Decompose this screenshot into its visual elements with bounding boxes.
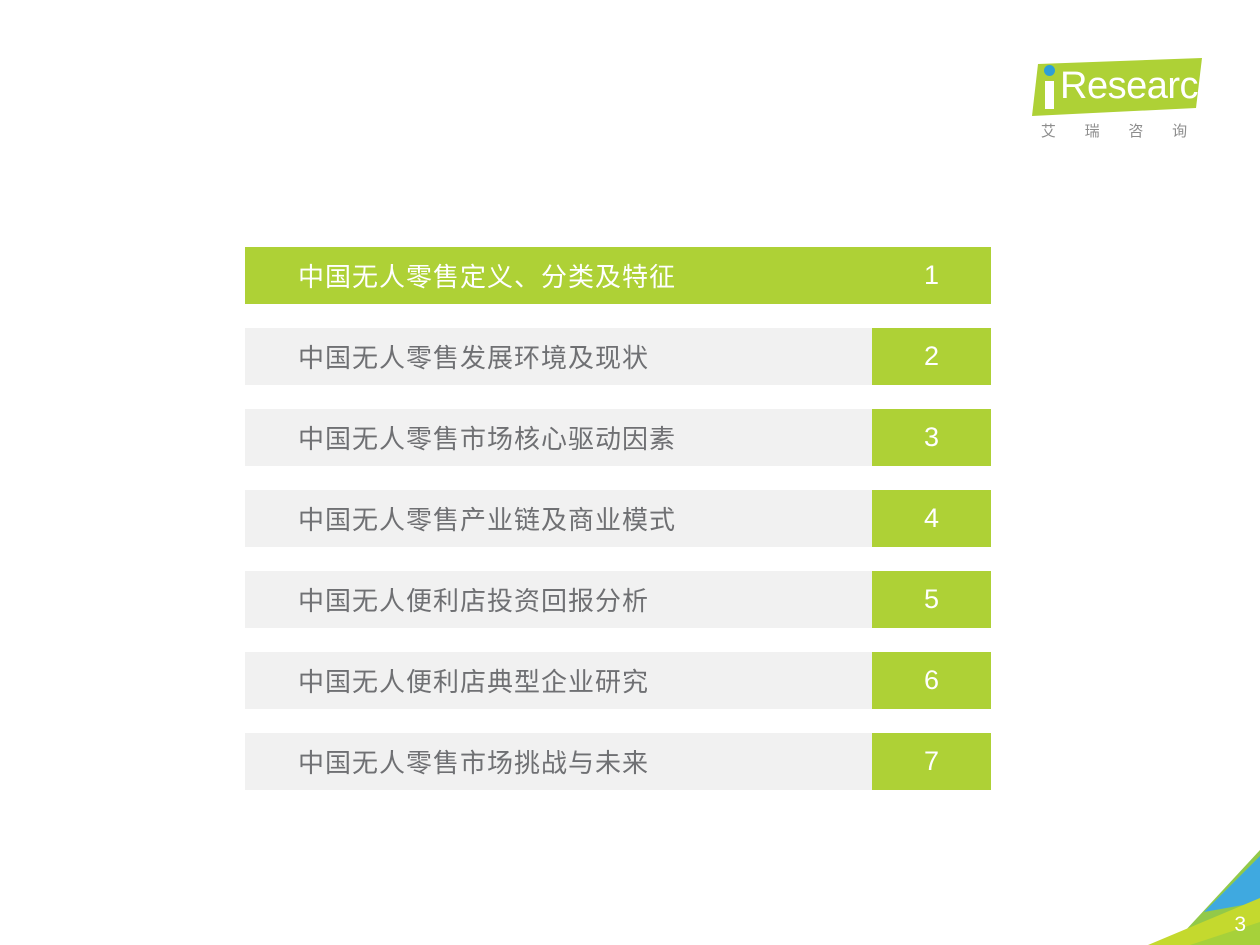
agenda-row-label: 中国无人零售市场核心驱动因素 [245,409,872,466]
agenda-row-number: 6 [872,652,991,709]
agenda-row-label: 中国无人零售发展环境及现状 [245,328,872,385]
agenda-row-number: 3 [872,409,991,466]
iresearch-logo: Research 艾 瑞 咨 询 [1032,58,1204,150]
agenda-row-5[interactable]: 中国无人便利店投资回报分析 5 [245,571,991,628]
logo-wordmark: Research [1060,66,1219,106]
agenda-row-label: 中国无人零售定义、分类及特征 [245,247,872,304]
page-number: 3 [1234,913,1246,937]
logo-i-stem [1045,81,1054,109]
corner-decoration: 3 [1130,850,1260,945]
logo-i-dot-icon [1044,65,1055,76]
agenda-row-number: 7 [872,733,991,790]
agenda-row-6[interactable]: 中国无人便利店典型企业研究 6 [245,652,991,709]
agenda-row-label: 中国无人零售产业链及商业模式 [245,490,872,547]
agenda-row-7[interactable]: 中国无人零售市场挑战与未来 7 [245,733,991,790]
agenda-row-label: 中国无人便利店典型企业研究 [245,652,872,709]
agenda-row-1[interactable]: 中国无人零售定义、分类及特征 1 [245,247,991,304]
agenda-row-number: 4 [872,490,991,547]
slide-canvas: Research 艾 瑞 咨 询 中国无人零售定义、分类及特征 1 中国无人零售… [0,0,1260,945]
agenda-list: 中国无人零售定义、分类及特征 1 中国无人零售发展环境及现状 2 中国无人零售市… [245,247,991,790]
agenda-row-3[interactable]: 中国无人零售市场核心驱动因素 3 [245,409,991,466]
agenda-row-4[interactable]: 中国无人零售产业链及商业模式 4 [245,490,991,547]
agenda-row-2[interactable]: 中国无人零售发展环境及现状 2 [245,328,991,385]
agenda-row-number: 1 [872,247,991,304]
agenda-row-label: 中国无人便利店投资回报分析 [245,571,872,628]
agenda-row-label: 中国无人零售市场挑战与未来 [245,733,872,790]
agenda-row-number: 2 [872,328,991,385]
logo-letter-i [1044,65,1055,109]
logo-subtitle: 艾 瑞 咨 询 [1034,120,1206,141]
agenda-row-number: 5 [872,571,991,628]
logo-mark: Research [1032,58,1204,116]
